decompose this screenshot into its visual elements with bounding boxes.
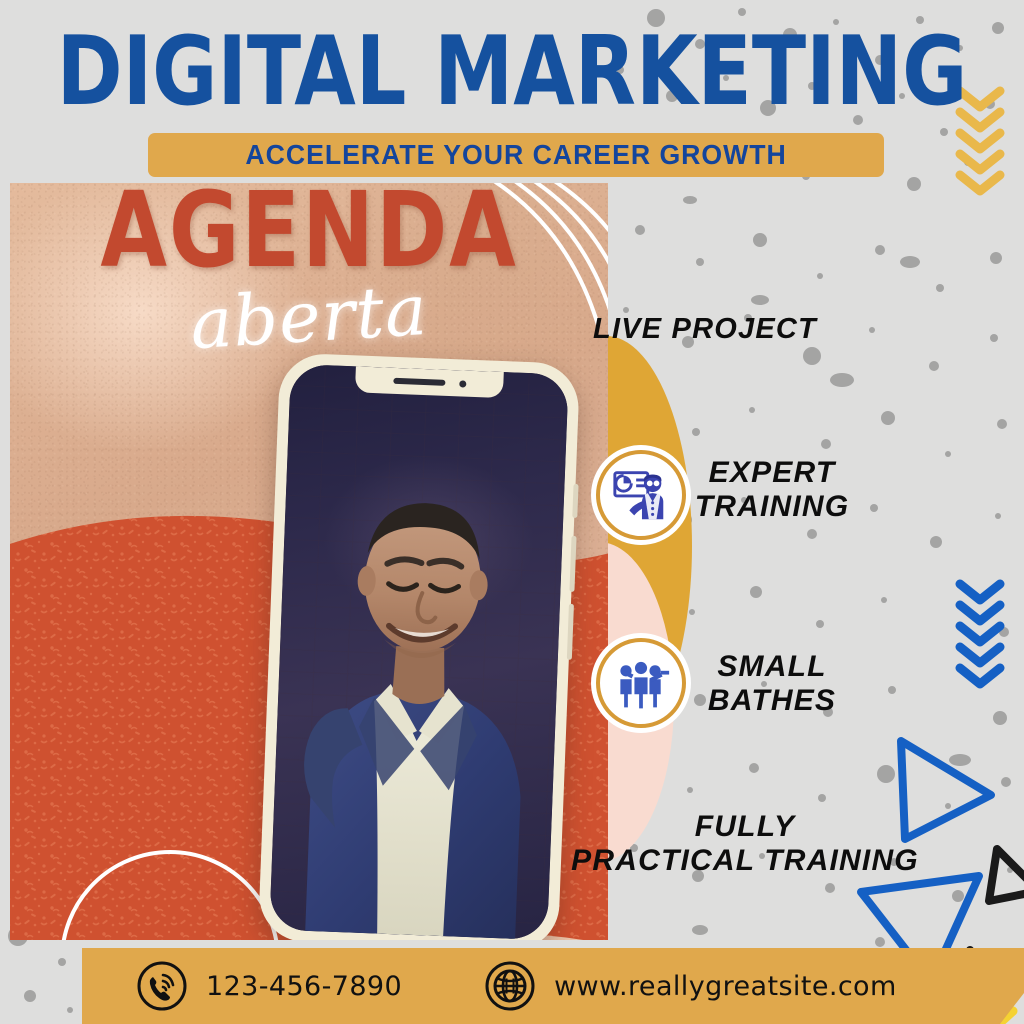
- group-people-icon-glyph: [611, 653, 671, 713]
- poster-canvas: DIGITAL MARKETING ACCELERATE YOUR CAREER…: [0, 0, 1024, 1024]
- globe-icon: [484, 960, 536, 1012]
- blue-chevrons-decoration: [952, 578, 1008, 686]
- subtitle-text: ACCELERATE YOUR CAREER GROWTH: [245, 139, 786, 171]
- group-people-icon: [596, 638, 686, 728]
- camera-icon: [459, 380, 466, 387]
- person-photo: [269, 364, 569, 940]
- phone-number-text: 123-456-7890: [206, 971, 402, 1002]
- phone-screen: [269, 364, 569, 940]
- contact-row: 123-456-7890: [0, 948, 1024, 1024]
- speaker-icon: [393, 378, 445, 386]
- presenter-icon-glyph: [610, 464, 672, 526]
- agenda-poster: AGENDA aberta: [10, 183, 608, 940]
- presenter-icon: [596, 450, 686, 540]
- black-triangle-upper: [983, 845, 1024, 907]
- feature-label-live-project: LIVE PROJECT: [560, 313, 850, 345]
- contact-website[interactable]: www.reallygreatsite.com: [484, 960, 897, 1012]
- feature-label-fully-practical: FULLY PRACTICAL TRAINING: [545, 810, 945, 877]
- page-title: DIGITAL MARKETING: [0, 26, 1024, 119]
- headline-text: DIGITAL MARKETING: [36, 26, 988, 119]
- subtitle-banner: ACCELERATE YOUR CAREER GROWTH: [148, 133, 884, 177]
- phone-mockup: [258, 352, 580, 940]
- website-url-text: www.reallygreatsite.com: [554, 971, 897, 1002]
- contact-footer-bar: 123-456-7890: [0, 948, 1024, 1024]
- contact-phone[interactable]: 123-456-7890: [136, 960, 402, 1012]
- phone-ringing-icon: [136, 960, 188, 1012]
